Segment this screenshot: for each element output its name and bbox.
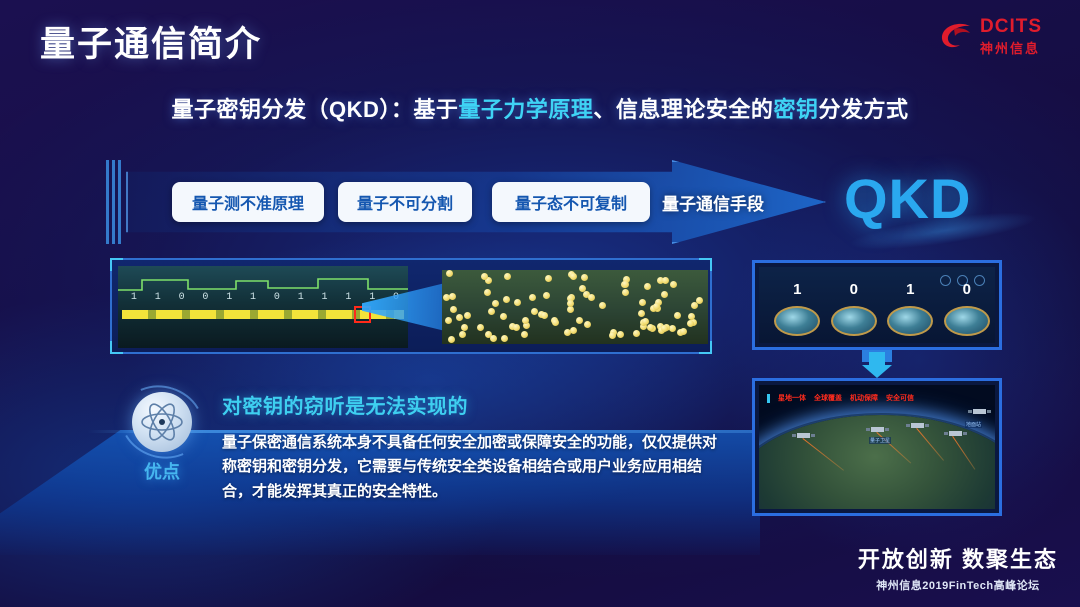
- slide-root: 量子通信简介 DCITS 神州信息 量子密钥分发（QKD）：基于量子力学原理、信…: [0, 0, 1080, 607]
- principle-pill-3[interactable]: 量子态不可复制: [492, 182, 650, 222]
- fiber-bit: 0: [179, 292, 185, 303]
- photon-dot: [588, 294, 595, 301]
- photon-dot: [687, 320, 694, 327]
- photon-dot: [564, 329, 571, 336]
- photon-dot: [461, 324, 468, 331]
- info-heading: 对密钥的窃听是无法实现的: [222, 390, 722, 419]
- photon-dot: [501, 335, 508, 342]
- slide-subtitle: 量子密钥分发（QKD）：基于量子力学原理、信息理论安全的密钥分发方式: [0, 92, 1080, 124]
- photon-dot: [513, 324, 520, 331]
- photon-dot: [670, 281, 677, 288]
- qubit-oval: [831, 306, 877, 336]
- fiber-bit: 1: [155, 292, 161, 303]
- brand-logo: DCITS 神州信息: [940, 16, 1060, 62]
- qkd-wordmark: QKD: [844, 166, 971, 231]
- footer-event-name: 神州信息2019FinTech高峰论坛: [858, 577, 1058, 593]
- photon-dot: [674, 312, 681, 319]
- photon-dot: [446, 270, 453, 277]
- photon-dot: [459, 331, 466, 338]
- band-label: 量子通信手段: [662, 190, 764, 215]
- footer-slogan: 开放创新 数聚生态: [858, 542, 1058, 574]
- photon-dot: [570, 273, 577, 280]
- monitor-bit: 0: [850, 281, 858, 298]
- photon-dot: [567, 300, 574, 307]
- subtitle-highlight-1: 量子力学原理: [458, 97, 593, 122]
- photon-dot: [500, 313, 507, 320]
- fiber-photon-panel: 110011011110: [110, 258, 712, 354]
- qubit-oval-row: [769, 303, 995, 339]
- photon-dot: [680, 328, 687, 335]
- monitor-bit: 1: [906, 281, 914, 298]
- photon-dot: [599, 302, 606, 309]
- photon-dot: [661, 291, 668, 298]
- photon-dot: [669, 325, 676, 332]
- photon-dot: [584, 321, 591, 328]
- subtitle-part-2: 、信息理论安全的: [593, 97, 773, 122]
- advantage-label: 优点: [120, 458, 204, 484]
- qkd-monitor-panel: 1010: [752, 260, 1002, 350]
- fiber-bit: 1: [131, 292, 137, 303]
- satellite-icon: [871, 427, 884, 432]
- photon-dot: [450, 306, 457, 313]
- satellite-icon: [911, 423, 924, 428]
- fiber-bit: 0: [202, 292, 208, 303]
- band-start-bars: [106, 160, 122, 244]
- subtitle-highlight-2: 密钥: [773, 97, 818, 122]
- monitor-bit-row: 1010: [769, 281, 995, 298]
- photon-dot: [456, 314, 463, 321]
- photon-dot: [484, 289, 491, 296]
- flow-down-arrow-icon: [862, 352, 892, 378]
- fiber-bit: 1: [250, 292, 256, 303]
- photon-dot: [531, 308, 538, 315]
- photon-dot: [638, 310, 645, 317]
- principle-pill-1[interactable]: 量子测不准原理: [172, 182, 324, 222]
- photon-dot: [622, 281, 629, 288]
- photon-dot: [545, 275, 552, 282]
- photon-dot: [644, 283, 651, 290]
- photon-field-view: [442, 270, 708, 344]
- photon-dot: [661, 325, 668, 332]
- photon-dot: [514, 299, 521, 306]
- photon-dot: [639, 299, 646, 306]
- photon-dot: [490, 335, 497, 342]
- fiber-bit: 1: [226, 292, 232, 303]
- photon-dot: [488, 308, 495, 315]
- satellite-network-panel: 星地一体 全球覆盖 机动保障 安全可信 量子卫星 地面站: [752, 378, 1002, 516]
- photon-dot: [617, 331, 624, 338]
- advantage-badge: 优点: [120, 392, 204, 496]
- subtitle-part-3: 分发方式: [818, 97, 908, 122]
- satellite-icon: [797, 433, 810, 438]
- dcits-swirl-icon: [940, 20, 974, 50]
- photon-dot: [503, 296, 510, 303]
- monitor-bit: 0: [963, 281, 971, 298]
- principle-pill-2[interactable]: 量子不可分割: [338, 182, 472, 222]
- subtitle-part-1: 量子密钥分发（QKD）：基于: [172, 97, 459, 122]
- photon-dot: [609, 332, 616, 339]
- atom-icon: [132, 392, 192, 452]
- photon-dot: [464, 312, 471, 319]
- photon-dot: [647, 324, 654, 331]
- info-block: 对密钥的窃听是无法实现的 量子保密通信系统本身不具备任何安全加密或保障安全的功能…: [222, 390, 722, 504]
- photon-dot: [521, 331, 528, 338]
- logo-chinese-name: 神州信息: [980, 38, 1040, 57]
- fiber-bit: 1: [345, 292, 351, 303]
- map-banner: 星地一体 全球覆盖 机动保障 安全可信: [767, 393, 914, 403]
- qubit-oval: [887, 306, 933, 336]
- qubit-oval: [774, 306, 820, 336]
- satellite-icon: [949, 431, 962, 436]
- photon-dot: [552, 319, 559, 326]
- map-banner-item-1: 星地一体: [778, 393, 806, 403]
- map-banner-item-3: 机动保障: [850, 393, 878, 403]
- fiber-bit: 1: [322, 292, 328, 303]
- photon-dot: [445, 317, 452, 324]
- map-banner-item-4: 安全可信: [886, 393, 914, 403]
- fiber-bit-labels: 110011011110: [122, 292, 408, 303]
- qubit-oval: [944, 306, 990, 336]
- photon-dot: [449, 293, 456, 300]
- photon-dot: [662, 277, 669, 284]
- footer-branding: 开放创新 数聚生态 神州信息2019FinTech高峰论坛: [858, 542, 1058, 593]
- photon-dot: [448, 336, 455, 343]
- photon-dot: [477, 324, 484, 331]
- logo-wordmark: DCITS: [980, 16, 1042, 38]
- photon-dot: [581, 274, 588, 281]
- photon-dot: [653, 303, 660, 310]
- monitor-bit: 1: [793, 281, 801, 298]
- photon-dot: [541, 312, 548, 319]
- photon-dot: [529, 294, 536, 301]
- title-bar: 量子通信简介 DCITS 神州信息: [0, 0, 1080, 72]
- photon-dot: [504, 273, 511, 280]
- photon-dot: [492, 300, 499, 307]
- photon-dot: [576, 317, 583, 324]
- photon-dot: [633, 330, 640, 337]
- monitor-screen: 1010: [759, 267, 995, 343]
- banner-tick-icon: [767, 394, 770, 403]
- map-label-station: 地面站: [965, 421, 982, 428]
- fiber-bit: 1: [298, 292, 304, 303]
- satellite-map: 星地一体 全球覆盖 机动保障 安全可信 量子卫星 地面站: [759, 385, 995, 509]
- map-banner-item-2: 全球覆盖: [814, 393, 842, 403]
- process-arrow-band: 量子测不准原理 量子不可分割 量子态不可复制 量子通信手段 QKD: [106, 156, 916, 248]
- photon-dot: [622, 289, 629, 296]
- photon-dot: [543, 292, 550, 299]
- fiber-bit: 0: [274, 292, 280, 303]
- photon-dot: [696, 297, 703, 304]
- satellite-icon: [973, 409, 986, 414]
- photon-dot: [570, 327, 577, 334]
- map-label-satellite: 量子卫星: [869, 437, 891, 444]
- page-title: 量子通信简介: [40, 16, 262, 67]
- info-body-text: 量子保密通信系统本身不具备任何安全加密或保障安全的功能，仅仅提供对称密钥和密钥分…: [222, 431, 722, 504]
- photon-dot: [567, 306, 574, 313]
